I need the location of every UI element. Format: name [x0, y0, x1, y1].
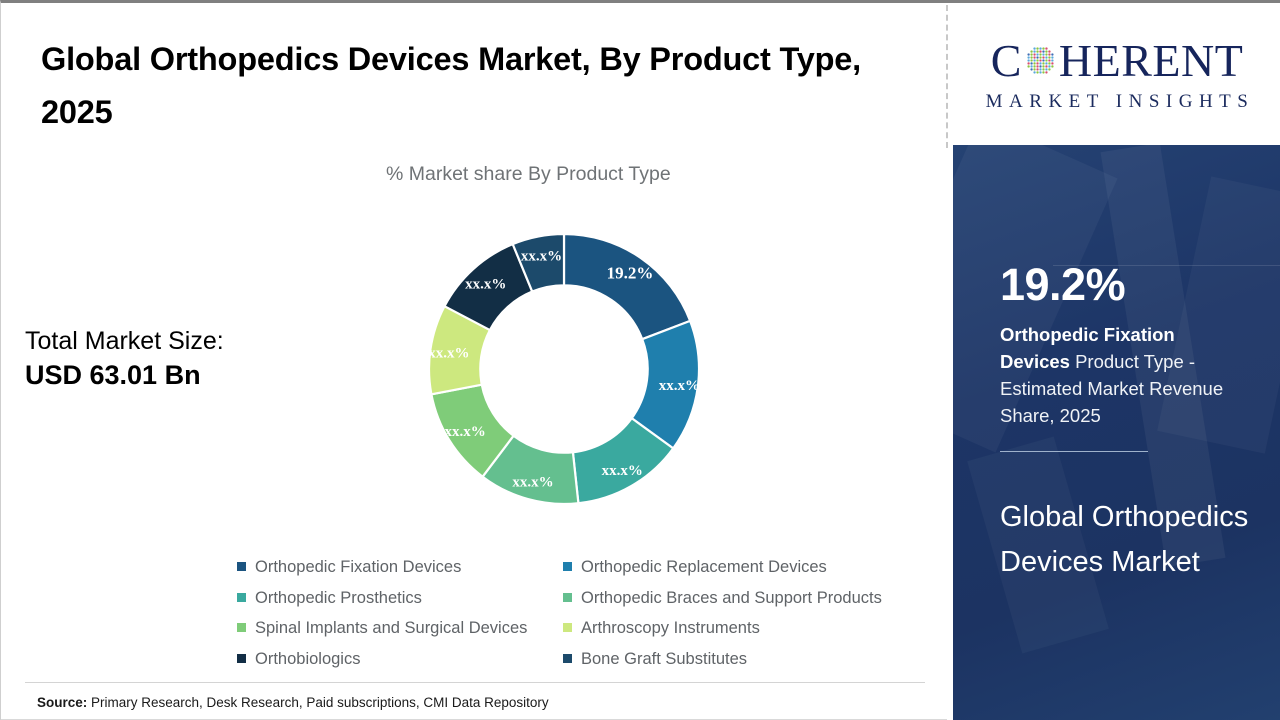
globe-dot [1027, 53, 1029, 55]
stat-divider [1000, 451, 1148, 452]
globe-dot [1030, 65, 1032, 67]
globe-dot [1048, 65, 1050, 67]
globe-dot [1039, 50, 1041, 52]
globe-dot [1048, 50, 1050, 52]
globe-dot [1045, 59, 1047, 61]
globe-dot [1033, 53, 1035, 55]
legend-item[interactable]: Arthroscopy Instruments [563, 620, 917, 637]
globe-dot [1033, 47, 1035, 49]
stat-value: 19.2% [1000, 261, 1248, 308]
donut-slice-label: xx.x% [465, 276, 506, 292]
globe-dot [1036, 62, 1038, 64]
globe-dot [1036, 59, 1038, 61]
legend-item[interactable]: Orthopedic Fixation Devices [237, 559, 563, 576]
legend-label: Spinal Implants and Surgical Devices [255, 620, 527, 637]
globe-dot [1036, 50, 1038, 52]
legend-swatch-icon [563, 593, 572, 602]
legend-label: Arthroscopy Instruments [581, 620, 760, 637]
chart-subtitle: % Market share By Product Type [386, 163, 806, 186]
globe-dot [1036, 53, 1038, 55]
globe-dot [1033, 71, 1035, 73]
globe-dot [1036, 68, 1038, 70]
globe-dot [1045, 65, 1047, 67]
globe-dot [1030, 68, 1032, 70]
legend-row: Orthopedic ProstheticsOrthopedic Braces … [237, 590, 917, 621]
legend-label: Orthopedic Fixation Devices [255, 559, 461, 576]
logo-wordmark: C HERENT [991, 38, 1244, 84]
donut-slice-label: xx.x% [428, 345, 469, 361]
company-logo: C HERENT MARKET INSIGHTS [953, 5, 1280, 145]
globe-dot [1051, 56, 1053, 58]
legend-item[interactable]: Orthopedic Prosthetics [237, 590, 563, 607]
donut-slice-label: xx.x% [602, 463, 643, 479]
globe-dot [1033, 59, 1035, 61]
globe-dot [1027, 59, 1029, 61]
globe-dot [1045, 56, 1047, 58]
legend-label: Bone Graft Substitutes [581, 651, 747, 668]
globe-dot [1030, 56, 1032, 58]
globe-dot [1036, 47, 1038, 49]
legend-swatch-icon [237, 623, 246, 632]
donut-slice-label: xx.x% [445, 424, 486, 440]
vertical-dashed-divider [946, 5, 948, 148]
legend-label: Orthopedic Braces and Support Products [581, 590, 882, 607]
right-brand-panel: C HERENT MARKET INSIGHTS 19.2% Orthopedi… [950, 3, 1280, 720]
globe-dot [1042, 65, 1044, 67]
globe-dot [1042, 56, 1044, 58]
globe-dot [1039, 47, 1041, 49]
globe-dot [1039, 62, 1041, 64]
globe-dot [1033, 56, 1035, 58]
footer-divider [25, 682, 925, 683]
market-name: Global Orthopedics Devices Market [1000, 495, 1260, 585]
donut-slice-label: xx.x% [521, 248, 562, 264]
globe-dot [1036, 65, 1038, 67]
globe-dots-icon [1023, 43, 1058, 78]
donut-slice-group [429, 234, 699, 504]
globe-dot [1027, 56, 1029, 58]
globe-dot [1039, 68, 1041, 70]
legend-swatch-icon [237, 593, 246, 602]
globe-dot [1048, 59, 1050, 61]
donut-slice [564, 234, 690, 339]
globe-dot [1033, 65, 1035, 67]
globe-dot [1045, 62, 1047, 64]
globe-dot [1048, 62, 1050, 64]
legend-item[interactable]: Orthopedic Replacement Devices [563, 559, 917, 576]
page-title: Global Orthopedics Devices Market, By Pr… [41, 33, 911, 138]
globe-dot [1039, 59, 1041, 61]
globe-dot [1042, 53, 1044, 55]
legend-label: Orthobiologics [255, 651, 360, 668]
donut-chart-svg: 19.2%xx.x%xx.x%xx.x%xx.x%xx.x%xx.x%xx.x% [419, 224, 709, 514]
globe-dot [1048, 68, 1050, 70]
legend-swatch-icon [563, 654, 572, 663]
legend-swatch-icon [563, 562, 572, 571]
globe-dot [1036, 56, 1038, 58]
donut-slice-label: xx.x% [659, 378, 700, 394]
legend-row: OrthobiologicsBone Graft Substitutes [237, 651, 917, 682]
globe-dot [1045, 50, 1047, 52]
globe-dot [1033, 50, 1035, 52]
total-market-label: Total Market Size: [25, 325, 224, 358]
logo-letter-c: C [991, 38, 1022, 84]
legend-item[interactable]: Orthopedic Braces and Support Products [563, 590, 917, 607]
globe-dot [1048, 56, 1050, 58]
globe-dot [1027, 65, 1029, 67]
globe-dot [1039, 53, 1041, 55]
infographic-page: Global Orthopedics Devices Market, By Pr… [0, 0, 1280, 720]
globe-dot [1042, 47, 1044, 49]
globe-dot [1039, 65, 1041, 67]
legend-row: Spinal Implants and Surgical DevicesArth… [237, 620, 917, 651]
globe-dot [1042, 50, 1044, 52]
globe-dot [1039, 56, 1041, 58]
globe-dot [1036, 71, 1038, 73]
globe-dot [1030, 59, 1032, 61]
legend-item[interactable]: Spinal Implants and Surgical Devices [237, 620, 563, 637]
globe-dot [1051, 62, 1053, 64]
source-text: Primary Research, Desk Research, Paid su… [87, 695, 548, 710]
highlight-stat-block: 19.2% Orthopedic Fixation Devices Produc… [1000, 261, 1248, 452]
globe-dot [1039, 71, 1041, 73]
donut-slice-label: 19.2% [607, 264, 654, 283]
globe-dot [1045, 47, 1047, 49]
source-label: Source: [37, 695, 87, 710]
globe-dot [1042, 68, 1044, 70]
globe-dot [1030, 53, 1032, 55]
globe-dot [1051, 53, 1053, 55]
legend-row: Orthopedic Fixation DevicesOrthopedic Re… [237, 559, 917, 590]
globe-dot [1030, 50, 1032, 52]
legend-label: Orthopedic Replacement Devices [581, 559, 827, 576]
globe-dot [1051, 59, 1053, 61]
globe-dot [1051, 65, 1053, 67]
donut-slice-label: xx.x% [512, 475, 553, 491]
globe-dot [1027, 62, 1029, 64]
legend-swatch-icon [563, 623, 572, 632]
globe-dot [1045, 53, 1047, 55]
total-market-size-block: Total Market Size: USD 63.01 Bn [25, 325, 224, 394]
logo-tagline: MARKET INSIGHTS [980, 91, 1255, 113]
stat-description: Orthopedic Fixation Devices Product Type… [1000, 321, 1248, 429]
globe-dot [1045, 68, 1047, 70]
legend-swatch-icon [237, 654, 246, 663]
legend-label: Orthopedic Prosthetics [255, 590, 422, 607]
globe-dot [1048, 53, 1050, 55]
chart-legend: Orthopedic Fixation DevicesOrthopedic Re… [237, 559, 917, 681]
globe-dot [1045, 71, 1047, 73]
legend-swatch-icon [237, 562, 246, 571]
legend-item[interactable]: Orthobiologics [237, 651, 563, 668]
total-market-value: USD 63.01 Bn [25, 358, 224, 394]
brand-blue-panel: 19.2% Orthopedic Fixation Devices Produc… [953, 145, 1280, 720]
logo-word-rest: HERENT [1059, 38, 1243, 84]
donut-chart: 19.2%xx.x%xx.x%xx.x%xx.x%xx.x%xx.x%xx.x% [419, 224, 709, 514]
left-content-panel: Global Orthopedics Devices Market, By Pr… [1, 3, 947, 720]
globe-dot [1030, 62, 1032, 64]
globe-dot [1042, 71, 1044, 73]
globe-dot [1033, 62, 1035, 64]
globe-dot [1042, 62, 1044, 64]
globe-dot [1042, 59, 1044, 61]
legend-item[interactable]: Bone Graft Substitutes [563, 651, 917, 668]
source-line: Source: Primary Research, Desk Research,… [37, 695, 549, 710]
globe-dot [1033, 68, 1035, 70]
